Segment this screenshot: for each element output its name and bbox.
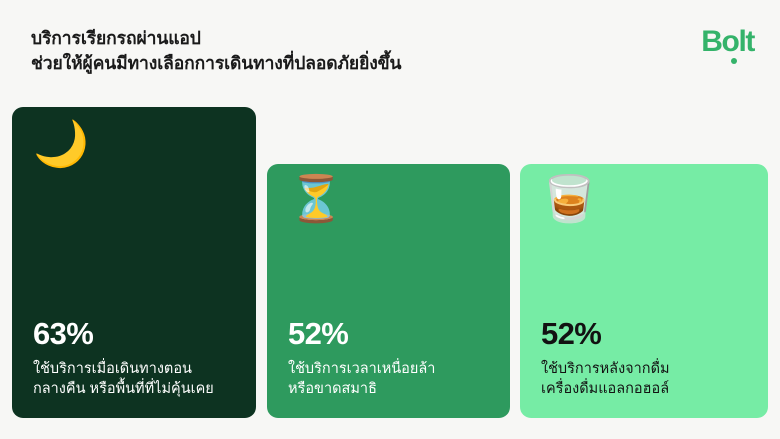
stat-card-list: 🌙 63% ใช้บริการเมื่อเดินทางตอน กลางคืน ห… — [0, 0, 780, 439]
stat-card-body: 52% ใช้บริการเวลาเหนื่อยล้า หรือขาดสมาธิ — [288, 317, 496, 400]
stat-value: 63% — [33, 317, 242, 350]
stat-value: 52% — [541, 317, 754, 350]
stat-description-line-2: หรือขาดสมาธิ — [288, 379, 496, 400]
stat-description: ใช้บริการหลังจากดื่ม เครื่องดื่มแอลกอฮอล… — [541, 359, 754, 400]
stat-description-line-1: ใช้บริการเมื่อเดินทางตอน — [33, 359, 242, 380]
stat-description-line-2: กลางคืน หรือพื้นที่ที่ไม่คุ้นเคย — [33, 379, 242, 400]
stat-card-tired-distracted: ⏳ 52% ใช้บริการเวลาเหนื่อยล้า หรือขาดสมา… — [267, 164, 510, 418]
crescent-moon-with-stars-icon: 🌙 — [33, 121, 89, 166]
stat-card-after-alcohol: 🥃 52% ใช้บริการหลังจากดื่ม เครื่องดื่มแอ… — [520, 164, 768, 418]
stat-description-line-1: ใช้บริการเวลาเหนื่อยล้า — [288, 359, 496, 380]
stat-card-body: 63% ใช้บริการเมื่อเดินทางตอน กลางคืน หรื… — [33, 317, 242, 400]
hourglass-icon: ⏳ — [288, 176, 344, 221]
stat-description: ใช้บริการเวลาเหนื่อยล้า หรือขาดสมาธิ — [288, 359, 496, 400]
stat-description-line-2: เครื่องดื่มแอลกอฮอล์ — [541, 379, 754, 400]
alcohol-bottle-and-glass-icon: 🥃 — [541, 176, 597, 221]
stat-card-night-travel: 🌙 63% ใช้บริการเมื่อเดินทางตอน กลางคืน ห… — [12, 107, 256, 418]
stat-value: 52% — [288, 317, 496, 350]
stat-description-line-1: ใช้บริการหลังจากดื่ม — [541, 359, 754, 380]
stat-description: ใช้บริการเมื่อเดินทางตอน กลางคืน หรือพื้… — [33, 359, 242, 400]
stat-card-body: 52% ใช้บริการหลังจากดื่ม เครื่องดื่มแอลก… — [541, 317, 754, 400]
infographic-page: บริการเรียกรถผ่านแอป ช่วยให้ผู้คนมีทางเล… — [0, 0, 780, 439]
